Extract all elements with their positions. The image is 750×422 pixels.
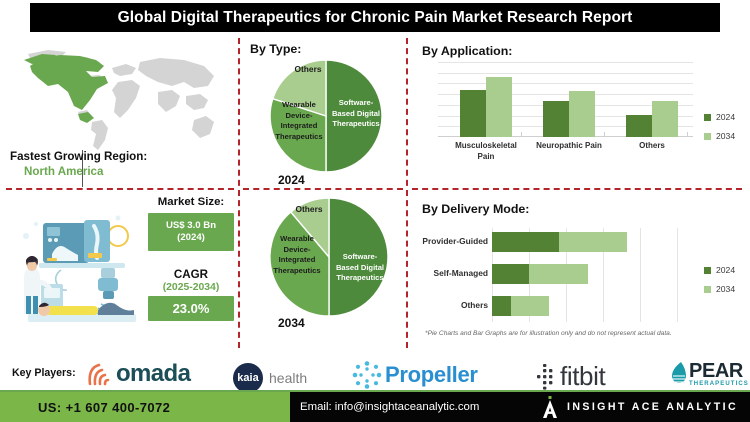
legend-swatch-delivery-2034 <box>704 286 711 293</box>
legend-swatch-2034 <box>704 133 711 140</box>
hbar-provider-guided-2034 <box>559 232 627 252</box>
pie-2024-slice-label-software: Software- Based Digital Therapeutics <box>330 98 382 130</box>
legend-label-delivery-2034: 2034 <box>716 284 735 294</box>
email-address: Email: info@insightaceanalytic.com <box>300 401 479 413</box>
cagr-value: 23.0% <box>148 296 234 321</box>
section-by-application: By Application: <box>422 44 512 58</box>
divider-horizontal-left <box>6 188 234 190</box>
infographic-page: Global Digital Therapeutics for Chronic … <box>0 0 750 422</box>
pie-2034-slice-label-software: Software- Based Digital Therapeutics <box>332 252 388 284</box>
legend-item-2024: 2024 <box>704 112 735 122</box>
bar-chart-by-application: Musculoskeletal Pain Neuropathic Pain Ot… <box>438 62 693 137</box>
kaia-wordmark: kaia <box>237 372 258 384</box>
divider-horizontal-mid <box>243 188 403 190</box>
section-by-delivery-mode: By Delivery Mode: <box>422 202 529 216</box>
pear-suffix: THERAPEUTICS <box>689 381 749 387</box>
divider-vertical-left <box>238 38 240 348</box>
fastest-growing-region-value: North America <box>24 165 225 178</box>
legend-label-delivery-2024: 2024 <box>716 265 735 275</box>
hbar-category-self-managed: Self-Managed <box>408 268 488 278</box>
pie-2034-year: 2034 <box>278 316 305 330</box>
pie-2034-slice-label-others: Others <box>286 204 332 215</box>
bar-neuropathic-2024 <box>543 101 569 137</box>
kaia-health-suffix: health <box>269 370 307 386</box>
legend-label-2024: 2024 <box>716 112 735 122</box>
hbar-provider-guided-2024 <box>492 232 559 252</box>
bar-musculoskeletal-2024 <box>460 90 486 137</box>
market-size-label: Market Size: <box>148 196 234 208</box>
logo-kaia-health[interactable]: kaia health <box>233 363 307 393</box>
contact-bar: US: +1 607 400-7072 Email: info@insighta… <box>0 392 750 422</box>
hbar-self-managed-2024 <box>492 264 529 284</box>
legend-item-delivery-2024: 2024 <box>704 265 735 275</box>
fitbit-wordmark: fitbit <box>560 361 605 392</box>
hbar-self-managed-2034 <box>529 264 588 284</box>
hbar-row-provider-guided <box>492 232 697 252</box>
divider-horizontal-right <box>412 188 742 190</box>
bar-category-others: Others <box>610 140 694 151</box>
world-map <box>8 42 230 154</box>
medical-imaging-illustration <box>6 196 146 330</box>
brand-name: INSIGHT ACE ANALYTIC <box>567 401 738 413</box>
pie-2034-slice-label-wearable: Wearable Device- Integrated Therapeutics <box>268 234 326 276</box>
legend-swatch-delivery-2024 <box>704 267 711 274</box>
brand-block: INSIGHT ACE ANALYTIC <box>542 392 738 422</box>
key-players-label: Key Players: <box>12 367 76 379</box>
email-block[interactable]: Email: info@insightaceanalytic.com <box>300 392 479 422</box>
section-by-type: By Type: <box>250 42 301 56</box>
legend-swatch-2024 <box>704 114 711 121</box>
logo-pear-therapeutics[interactable]: PEAR THERAPEUTICS <box>668 360 749 388</box>
insightace-a-logo-icon <box>542 396 558 418</box>
fastest-growing-region-label: Fastest Growing Region: <box>10 150 225 163</box>
hbar-row-self-managed <box>492 264 697 284</box>
logo-omada[interactable]: omada <box>84 360 190 388</box>
bar-others-2034 <box>652 101 678 137</box>
legend-item-delivery-2034: 2034 <box>704 284 735 294</box>
cagr-period: (2025-2034) <box>148 282 234 293</box>
legend-by-delivery-mode: 2024 2034 <box>704 265 735 303</box>
pear-wordmark: PEAR <box>689 361 749 381</box>
bar-musculoskeletal-2034 <box>486 77 512 137</box>
omada-wordmark: omada <box>116 360 190 388</box>
pie-chart-by-type-2024: Software- Based Digital Therapeutics Wea… <box>268 58 384 174</box>
bar-neuropathic-2034 <box>569 91 595 138</box>
bar-category-neuropathic: Neuropathic Pain <box>527 140 611 151</box>
propeller-wordmark: Propeller <box>385 362 478 388</box>
market-metrics: Market Size: US$ 3.0 Bn (2024) CAGR (202… <box>148 196 234 321</box>
pie-2024-slice-label-wearable: Wearable Device- Integrated Therapeutics <box>272 100 326 142</box>
pie-2024-year: 2024 <box>278 173 305 187</box>
legend-label-2034: 2034 <box>716 131 735 141</box>
hbar-category-others: Others <box>408 300 488 310</box>
chart-disclaimer: *Pie Charts and Bar Graphs are for illus… <box>425 330 672 337</box>
legend-item-2034: 2034 <box>704 131 735 141</box>
phone-number: US: +1 607 400-7072 <box>38 400 170 415</box>
bar-category-musculoskeletal: Musculoskeletal Pain <box>444 140 528 162</box>
market-size-value: US$ 3.0 Bn <box>150 220 232 232</box>
north-america-highlight <box>24 54 108 123</box>
hbar-others-2024 <box>492 296 511 316</box>
pear-mark-icon <box>668 360 688 388</box>
fastest-growing-region: Fastest Growing Region: North America <box>10 150 225 178</box>
logo-propeller[interactable]: Propeller <box>352 360 478 390</box>
kaia-mark-icon: kaia <box>233 363 263 393</box>
fitbit-mark-icon <box>535 364 557 390</box>
pie-chart-by-type-2034: Software- Based Digital Therapeutics Wea… <box>268 196 390 318</box>
cagr-label: CAGR <box>148 268 234 281</box>
report-title-bar: Global Digital Therapeutics for Chronic … <box>30 3 720 32</box>
market-size-year: (2024) <box>150 232 232 244</box>
logo-fitbit[interactable]: fitbit <box>535 361 605 392</box>
hbar-others-2034 <box>511 296 549 316</box>
bar-chart-by-delivery-mode <box>492 228 697 322</box>
pie-2024-slice-label-others: Others <box>286 64 330 75</box>
market-size-value-box: US$ 3.0 Bn (2024) <box>148 213 234 251</box>
hbar-row-others <box>492 296 697 316</box>
legend-by-application: 2024 2034 <box>704 112 735 150</box>
phone-block: US: +1 607 400-7072 <box>0 392 290 422</box>
bar-others-2024 <box>626 115 652 138</box>
page-title: Global Digital Therapeutics for Chronic … <box>118 9 633 27</box>
propeller-mark-icon <box>352 360 382 390</box>
hbar-category-provider-guided: Provider-Guided <box>408 236 488 246</box>
omada-mark-icon <box>84 360 114 388</box>
